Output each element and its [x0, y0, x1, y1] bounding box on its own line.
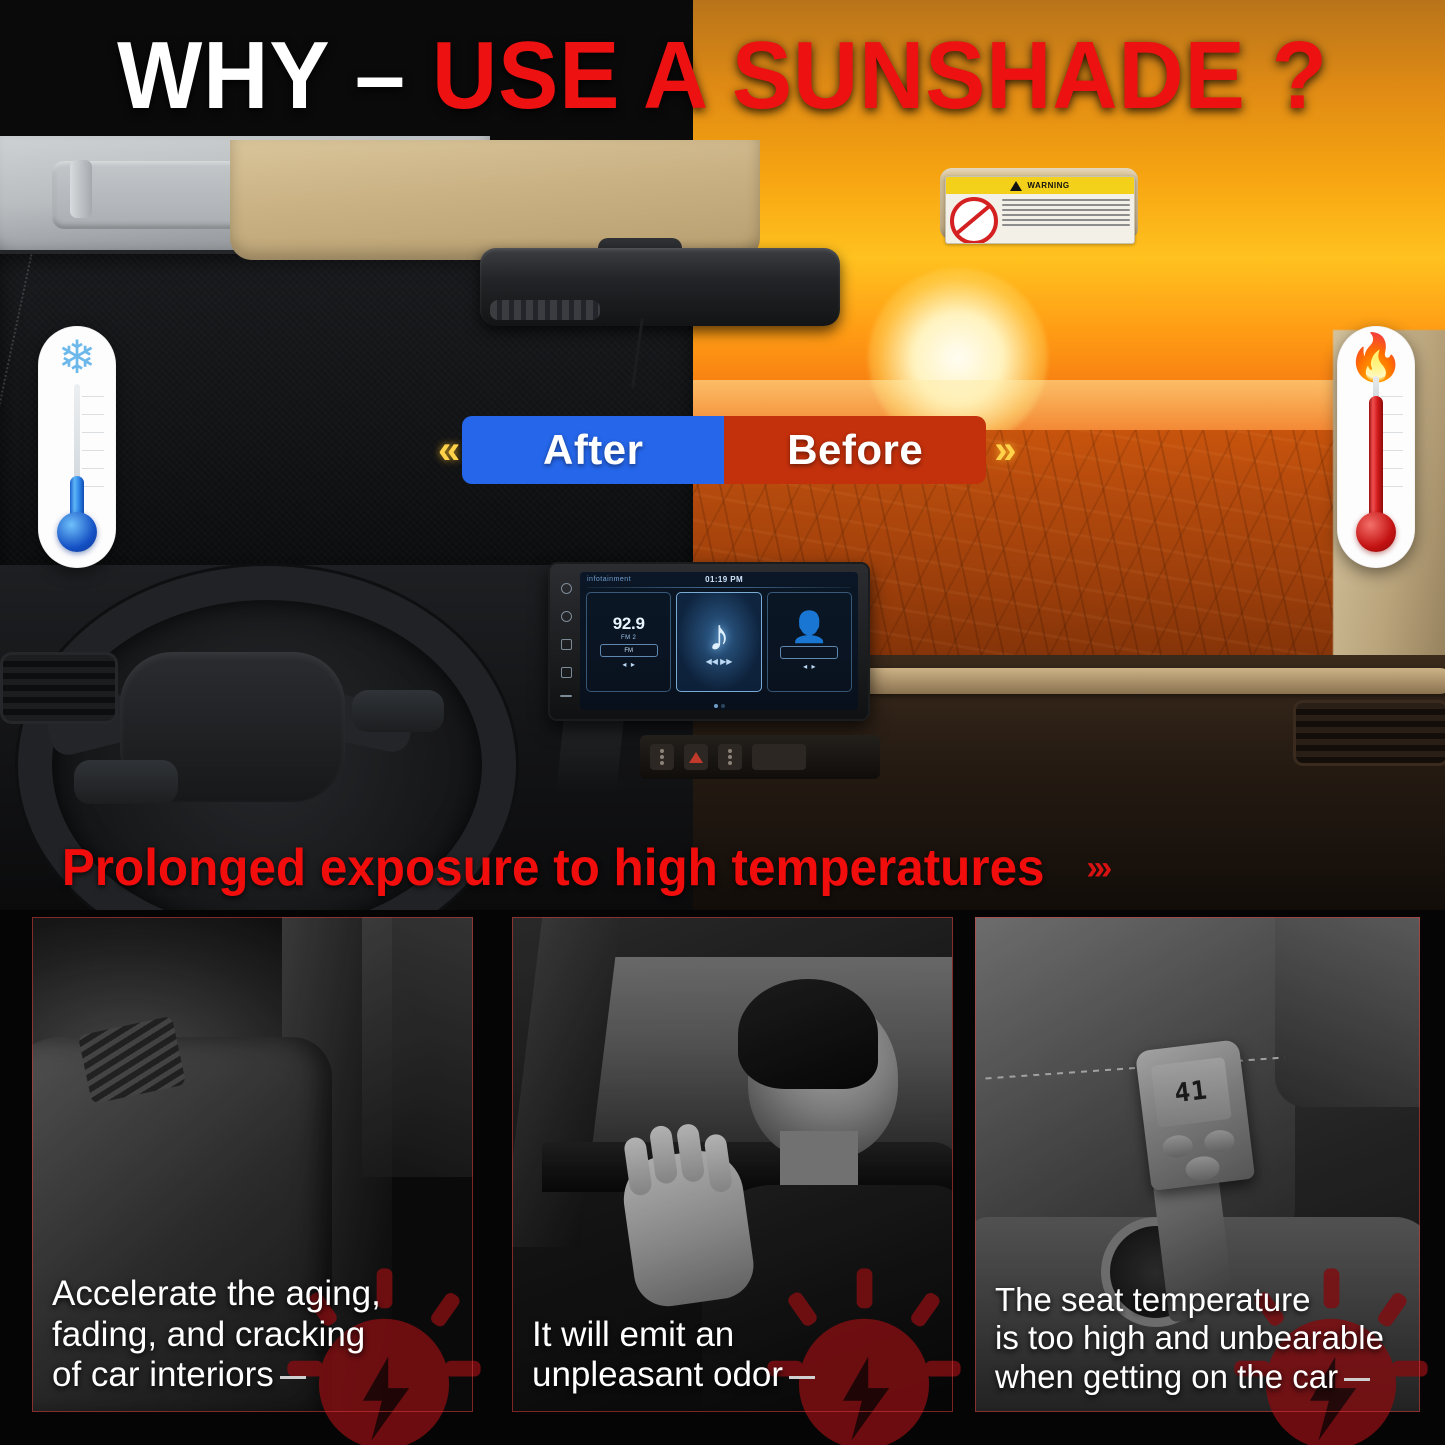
snowflake-icon: ❄ — [38, 334, 116, 380]
head-unit-side-buttons[interactable] — [554, 574, 578, 706]
chevron-left-icon: « — [430, 430, 462, 470]
dashboard-trim-strip — [813, 668, 1445, 694]
hazard-triangle-icon — [689, 752, 703, 763]
radio-tuner-arrows[interactable]: ◂ ▸ — [622, 660, 634, 669]
mode-icon[interactable] — [561, 667, 572, 678]
radio-preset-pill[interactable]: FM — [600, 644, 658, 657]
thermometer-lcd: 41 — [1151, 1057, 1232, 1128]
no-child-seat-icon — [950, 197, 998, 244]
warning-heading: WARNING — [1027, 181, 1069, 190]
page-title: WHY – USE A SUNSHADE ? — [43, 28, 1401, 124]
profile-arrows[interactable]: ◂ ▸ — [803, 662, 815, 671]
subheading-arrows-icon: ››› — [1086, 849, 1108, 888]
power-icon[interactable] — [561, 583, 572, 594]
after-before-toggle: « After Before » — [430, 416, 1019, 484]
flame-icon: 🔥 — [1337, 334, 1415, 380]
caption-line: It will emit an — [532, 1315, 943, 1356]
head-unit-screen[interactable]: infotainment 01:19 PM 92.9 FM 2 FM ◂ ▸ ♪… — [580, 572, 858, 710]
warning-label-header: WARNING — [946, 177, 1134, 194]
benefit-panels: Accelerate the aging, fading, and cracki… — [0, 917, 1445, 1445]
title-red-part: USE A SUNSHADE ? — [432, 22, 1328, 129]
caption-line: The seat temperature — [995, 1281, 1410, 1319]
head-unit-status-bar: infotainment 01:19 PM — [580, 572, 858, 586]
gun-button-left[interactable] — [1161, 1134, 1193, 1159]
panel-unpleasant-odor: It will emit an unpleasant odor — [512, 917, 953, 1412]
thermometer-reading: 41 — [1173, 1075, 1210, 1109]
panel-interior-aging: Accelerate the aging, fading, and cracki… — [32, 917, 473, 1412]
climate-button[interactable] — [752, 744, 806, 770]
hazard-button[interactable] — [684, 744, 708, 770]
cold-thermometer: ❄ — [38, 326, 116, 568]
caption-line: unpleasant odor — [532, 1355, 783, 1394]
page-dots — [580, 704, 858, 708]
gun-button-center[interactable] — [1184, 1154, 1221, 1182]
title-white-part: WHY – — [117, 22, 406, 129]
media-transport-arrows[interactable]: ◀◀ ▶▶ — [706, 657, 733, 666]
volume-icon[interactable] — [561, 639, 572, 650]
subheading: Prolonged exposure to high temperatures … — [36, 838, 1108, 898]
radio-band: FM 2 — [621, 635, 636, 641]
seat-backrest — [975, 917, 1295, 1237]
product-infographic: WARNING i — [0, 0, 1445, 1445]
caption-line: fading, and cracking — [52, 1315, 463, 1356]
person-hair — [738, 979, 878, 1089]
caption-underscore — [280, 1376, 306, 1379]
visor-warning-label: WARNING — [945, 176, 1135, 244]
hot-thermometer: 🔥 — [1337, 326, 1415, 568]
infrared-thermometer-gun: 41 — [1135, 1039, 1255, 1191]
caption-underscore — [1344, 1378, 1370, 1381]
headrest — [1275, 917, 1420, 1107]
panel-caption: Accelerate the aging, fading, and cracki… — [52, 1274, 463, 1396]
caption-underscore — [789, 1376, 815, 1379]
chevron-right-icon: » — [986, 430, 1018, 470]
after-badge[interactable]: After — [462, 416, 724, 484]
mirror-grip — [490, 300, 600, 320]
caption-line: is too high and unbearable — [995, 1319, 1410, 1357]
thermometer-bulb-cold — [57, 512, 97, 552]
air-vent-right — [1293, 700, 1445, 766]
air-vent-left — [0, 652, 118, 724]
radio-frequency: 92.9 — [613, 615, 645, 632]
warning-text-lines — [1002, 197, 1130, 244]
panel-caption: The seat temperature is too high and unb… — [995, 1281, 1410, 1396]
steering-button-pad-right — [352, 690, 444, 732]
warning-label-body — [946, 194, 1134, 244]
media-card[interactable]: ♪ ◀◀ ▶▶ — [676, 592, 761, 692]
visor-clip — [70, 160, 92, 218]
panel-caption: It will emit an unpleasant odor — [532, 1315, 943, 1396]
before-badge[interactable]: Before — [724, 416, 986, 484]
caption-line: when getting on the car — [995, 1358, 1338, 1395]
panel-seat-temperature: 41 The seat — [975, 917, 1420, 1412]
head-unit-cards: 92.9 FM 2 FM ◂ ▸ ♪ ◀◀ ▶▶ 👤 ◂ ▸ — [580, 592, 858, 692]
profile-pill[interactable] — [780, 646, 838, 659]
seat-heater-left-button[interactable] — [650, 744, 674, 770]
subheading-text: Prolonged exposure to high temperatures — [62, 838, 1045, 898]
side-window — [362, 917, 473, 1177]
steering-button-pad-left — [74, 760, 178, 804]
center-console-buttons — [640, 735, 880, 779]
head-unit-mount — [556, 716, 624, 794]
menu-icon[interactable] — [560, 695, 572, 697]
thermometer-bulb-hot — [1356, 512, 1396, 552]
caption-line: of car interiors — [52, 1355, 274, 1394]
gun-button-right[interactable] — [1203, 1128, 1235, 1153]
warning-triangle-icon — [1010, 181, 1022, 191]
head-unit-clock: 01:19 PM — [705, 575, 743, 584]
head-unit-divider — [587, 587, 851, 588]
caption-line: Accelerate the aging, — [52, 1274, 463, 1315]
radio-card[interactable]: 92.9 FM 2 FM ◂ ▸ — [586, 592, 671, 692]
seat-heater-right-button[interactable] — [718, 744, 742, 770]
music-note-icon: ♪ — [708, 618, 730, 654]
driver-profile-icon: 👤 — [791, 613, 828, 643]
head-unit-brand: infotainment — [587, 576, 631, 583]
profile-card[interactable]: 👤 ◂ ▸ — [767, 592, 852, 692]
home-icon[interactable] — [561, 611, 572, 622]
infotainment-head-unit: infotainment 01:19 PM 92.9 FM 2 FM ◂ ▸ ♪… — [548, 562, 870, 721]
